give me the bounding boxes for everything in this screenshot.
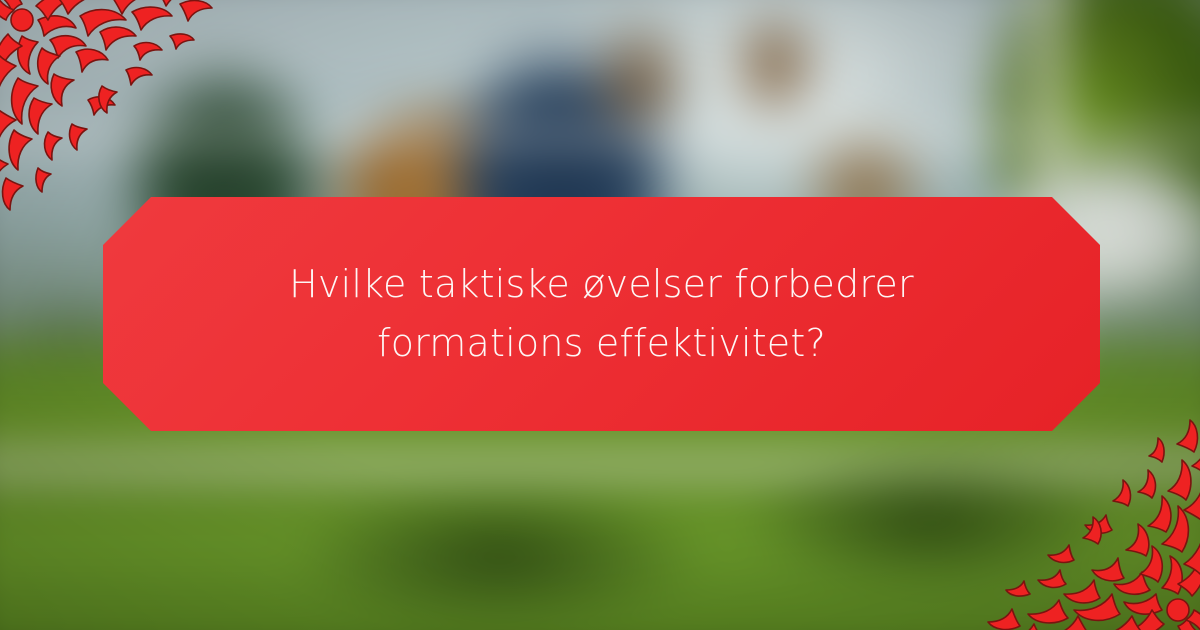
social-card-canvas: Hvilke taktiske øvelser forbedrer format… [0,0,1200,630]
headline-banner: Hvilke taktiske øvelser forbedrer format… [103,197,1100,431]
banner-title: Hvilke taktiske øvelser forbedrer format… [207,255,997,373]
